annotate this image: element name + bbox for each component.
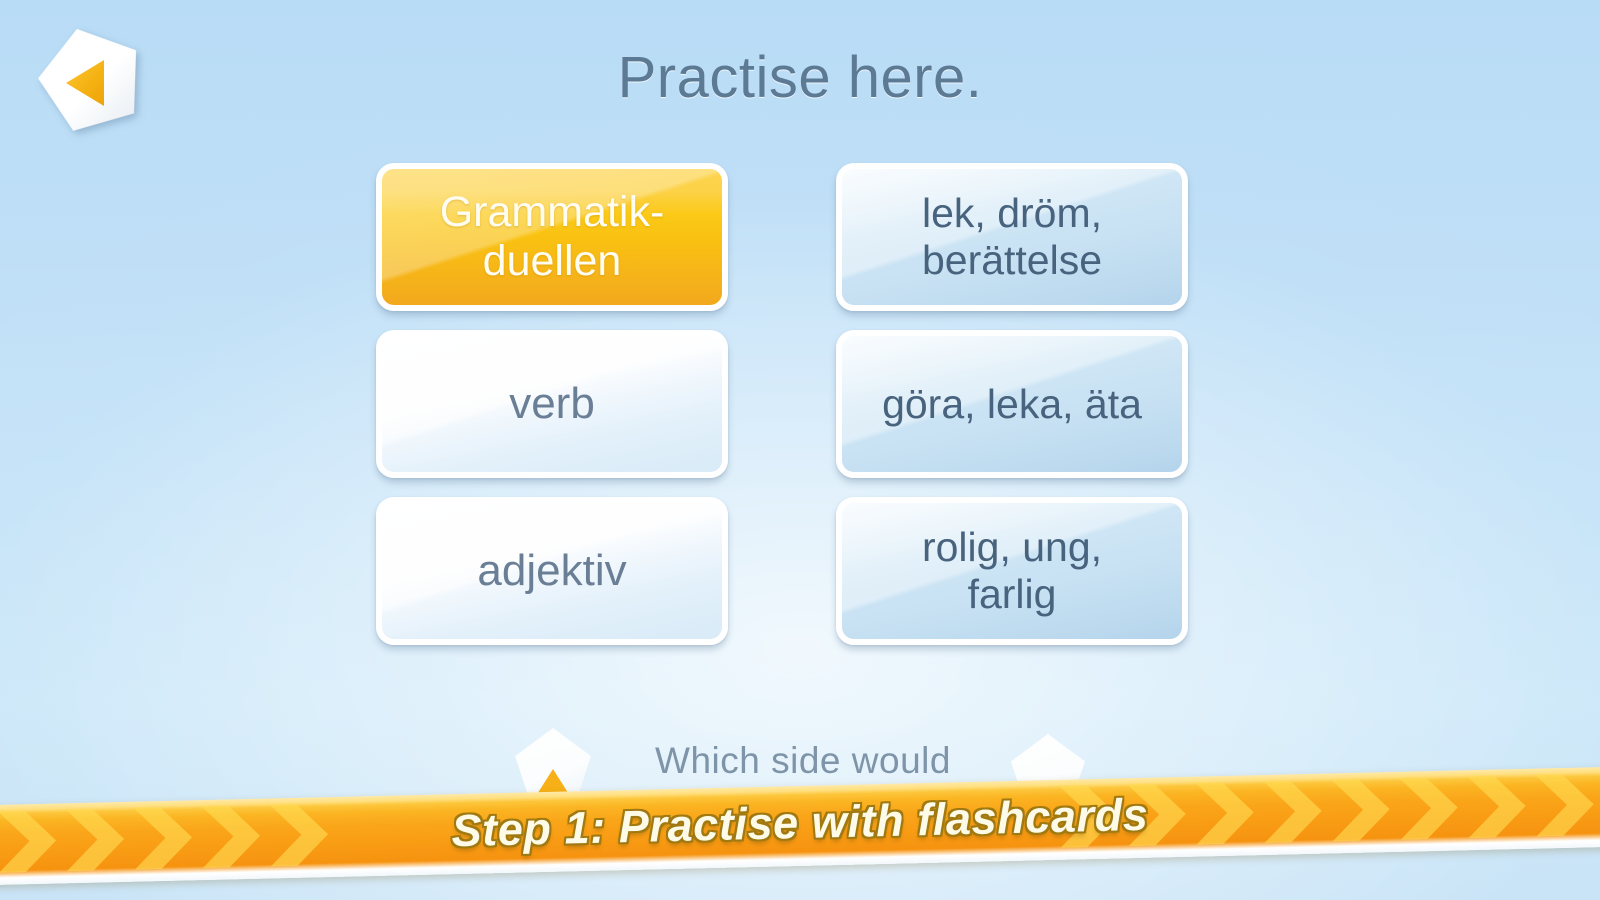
card-label: rolig, ung,farlig [912, 524, 1112, 617]
card-label: göra, leka, äta [872, 381, 1152, 428]
card-term-grammatikduellen[interactable]: Grammatik-duellen [376, 163, 728, 311]
card-answer-gora-leka-ata[interactable]: göra, leka, äta [836, 330, 1188, 478]
card-term-verb[interactable]: verb [376, 330, 728, 478]
card-row: adjektiv rolig, ung,farlig [376, 497, 1190, 645]
page-title: Practise here. [0, 44, 1600, 111]
app-screen: Practise here. Grammatik-duellen lek, dr… [0, 0, 1600, 900]
card-label: verb [499, 379, 605, 429]
card-answer-lek-drom-berattelse[interactable]: lek, dröm,berättelse [836, 163, 1188, 311]
flashcard-grid: Grammatik-duellen lek, dröm,berättelse v… [376, 163, 1190, 664]
card-label: lek, dröm,berättelse [912, 190, 1112, 283]
question-text: Which side would [655, 740, 951, 782]
card-label: adjektiv [467, 546, 636, 596]
card-row: verb göra, leka, äta [376, 330, 1190, 478]
card-label: Grammatik-duellen [430, 188, 675, 286]
card-term-adjektiv[interactable]: adjektiv [376, 497, 728, 645]
card-row: Grammatik-duellen lek, dröm,berättelse [376, 163, 1190, 311]
card-answer-rolig-ung-farlig[interactable]: rolig, ung,farlig [836, 497, 1188, 645]
